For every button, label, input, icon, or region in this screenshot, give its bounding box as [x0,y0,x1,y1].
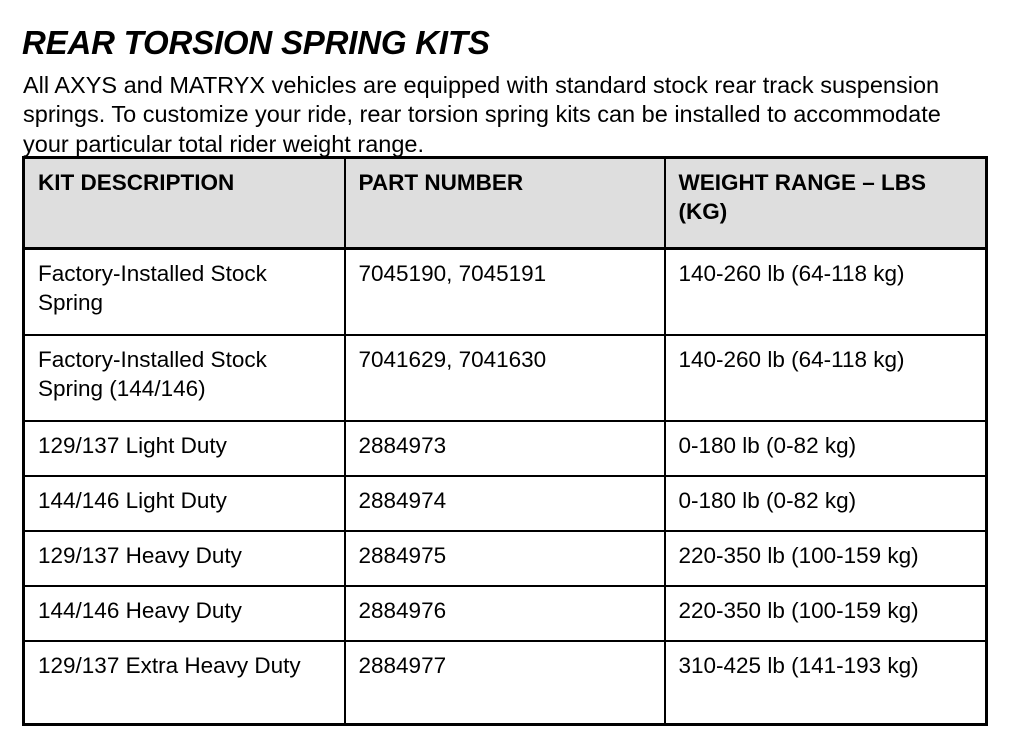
table-body: Factory-Installed Stock Spring 7045190, … [24,249,987,725]
column-header-kit-description: KIT DESCRIPTION [24,158,345,249]
cell-kit-description: 129/137 Light Duty [24,421,345,476]
table-header: KIT DESCRIPTION PART NUMBER WEIGHT RANGE… [24,158,987,249]
table-row: 129/137 Light Duty 2884973 0-180 lb (0-8… [24,421,987,476]
column-header-weight-range: WEIGHT RANGE – LBS (KG) [665,158,987,249]
cell-kit-description: 144/146 Heavy Duty [24,586,345,641]
cell-part-number: 7045190, 7045191 [345,249,665,335]
table-row: 129/137 Extra Heavy Duty 2884977 310-425… [24,641,987,725]
cell-weight-range: 220-350 lb (100-159 kg) [665,531,987,586]
column-header-part-number: PART NUMBER [345,158,665,249]
cell-part-number: 7041629, 7041630 [345,335,665,421]
table-row: 144/146 Light Duty 2884974 0-180 lb (0-8… [24,476,987,531]
cell-kit-description: 129/137 Extra Heavy Duty [24,641,345,725]
table-row: Factory-Installed Stock Spring (144/146)… [24,335,987,421]
spring-kits-table: KIT DESCRIPTION PART NUMBER WEIGHT RANGE… [22,156,988,726]
cell-weight-range: 140-260 lb (64-118 kg) [665,335,987,421]
cell-part-number: 2884974 [345,476,665,531]
intro-paragraph: All AXYS and MATRYX vehicles are equippe… [23,71,953,160]
page-title: REAR TORSION SPRING KITS [22,24,490,62]
cell-weight-range: 220-350 lb (100-159 kg) [665,586,987,641]
cell-weight-range: 0-180 lb (0-82 kg) [665,421,987,476]
cell-kit-description: 144/146 Light Duty [24,476,345,531]
table-row: 144/146 Heavy Duty 2884976 220-350 lb (1… [24,586,987,641]
cell-kit-description: 129/137 Heavy Duty [24,531,345,586]
cell-part-number: 2884976 [345,586,665,641]
table-row: Factory-Installed Stock Spring 7045190, … [24,249,987,335]
cell-kit-description: Factory-Installed Stock Spring (144/146) [24,335,345,421]
table-row: 129/137 Heavy Duty 2884975 220-350 lb (1… [24,531,987,586]
cell-part-number: 2884977 [345,641,665,725]
cell-kit-description: Factory-Installed Stock Spring [24,249,345,335]
cell-part-number: 2884973 [345,421,665,476]
cell-weight-range: 0-180 lb (0-82 kg) [665,476,987,531]
cell-part-number: 2884975 [345,531,665,586]
cell-weight-range: 140-260 lb (64-118 kg) [665,249,987,335]
spring-kits-table-container: KIT DESCRIPTION PART NUMBER WEIGHT RANGE… [22,156,985,726]
table-header-row: KIT DESCRIPTION PART NUMBER WEIGHT RANGE… [24,158,987,249]
cell-weight-range: 310-425 lb (141-193 kg) [665,641,987,725]
document-page: REAR TORSION SPRING KITS All AXYS and MA… [0,0,1024,748]
